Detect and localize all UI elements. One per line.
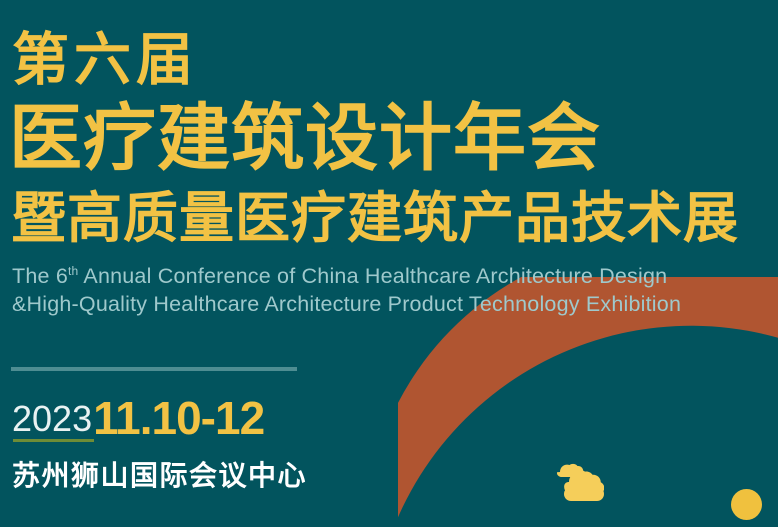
english-subtitle-line-1: The 6th Annual Conference of China Healt… [12,262,772,290]
event-year: 2023 [12,398,92,442]
cloud-icon [546,463,604,509]
title-line-2: 医疗建筑设计年会 [9,99,601,179]
english-subtitle-line-1-suffix: Annual Conference of China Healthcare Ar… [78,264,667,288]
divider [11,367,297,371]
english-subtitle-line-1-prefix: The 6 [12,264,68,288]
circle-dot-decoration [731,489,762,520]
ordinal-suffix: th [68,264,78,278]
event-days: 11.10-12 [93,395,264,442]
conference-poster: 第六届 医疗建筑设计年会 暨高质量医疗建筑产品技术展 The 6th Annua… [0,0,778,527]
title-line-1: 第六届 [12,30,198,90]
english-subtitle-line-2: &High-Quality Healthcare Architecture Pr… [12,290,772,318]
event-date: 2023 11.10-12 [12,395,264,442]
english-subtitle: The 6th Annual Conference of China Healt… [12,262,772,318]
title-line-3: 暨高质量医疗建筑产品技术展 [11,188,739,248]
event-venue: 苏州狮山国际会议中心 [12,459,307,493]
